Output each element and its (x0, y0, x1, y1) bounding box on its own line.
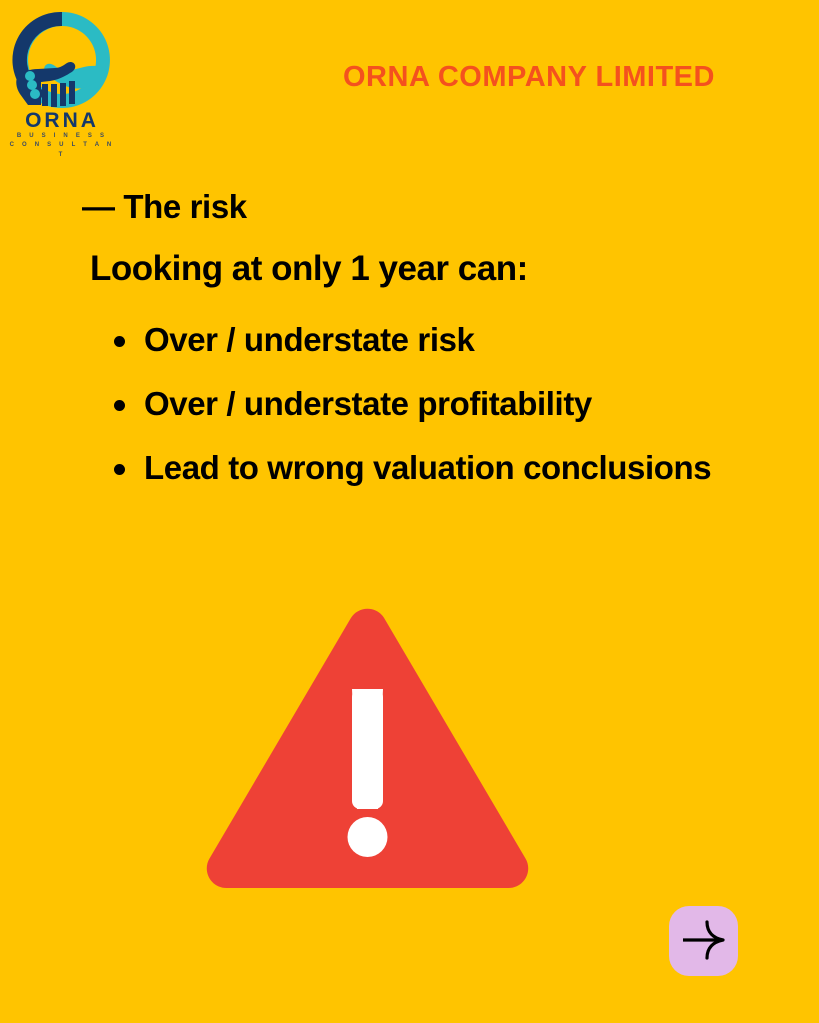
list-item: Over / understate risk (0, 317, 819, 364)
logo-tagline-line-2: C O N S U L T A N T (8, 141, 116, 160)
company-title: ORNA COMPANY LIMITED (343, 61, 715, 94)
list-item-label: Lead to wrong valuation conclusions (144, 449, 711, 486)
list-item: Lead to wrong valuation conclusions (0, 445, 819, 492)
logo-wordmark: ORNA (8, 110, 116, 131)
warning-triangle-icon (200, 600, 534, 890)
bullet-dot-icon (114, 464, 125, 475)
risk-bullet-list: Over / understate risk Over / understate… (0, 292, 819, 492)
logo-tagline: B U S I N E S S C O N S U L T A N T (8, 132, 116, 160)
slide-content: — The risk Looking at only 1 year can: O… (0, 186, 819, 509)
slide-canvas: ORNA B U S I N E S S C O N S U L T A N T… (0, 0, 819, 1023)
logo-tagline-line-1: B U S I N E S S (8, 132, 116, 141)
lead-in-text: Looking at only 1 year can: (0, 228, 819, 292)
bullet-dot-icon (114, 400, 125, 411)
list-item-label: Over / understate risk (144, 321, 475, 358)
arrow-right-icon (680, 918, 728, 965)
section-heading: — The risk (0, 186, 819, 228)
bullet-dot-icon (114, 336, 125, 347)
orna-handshake-circle-logo (8, 6, 116, 114)
brand-logo: ORNA B U S I N E S S C O N S U L T A N T (8, 6, 116, 154)
next-slide-button[interactable] (669, 906, 738, 976)
list-item: Over / understate profitability (0, 381, 819, 428)
list-item-label: Over / understate profitability (144, 385, 592, 422)
